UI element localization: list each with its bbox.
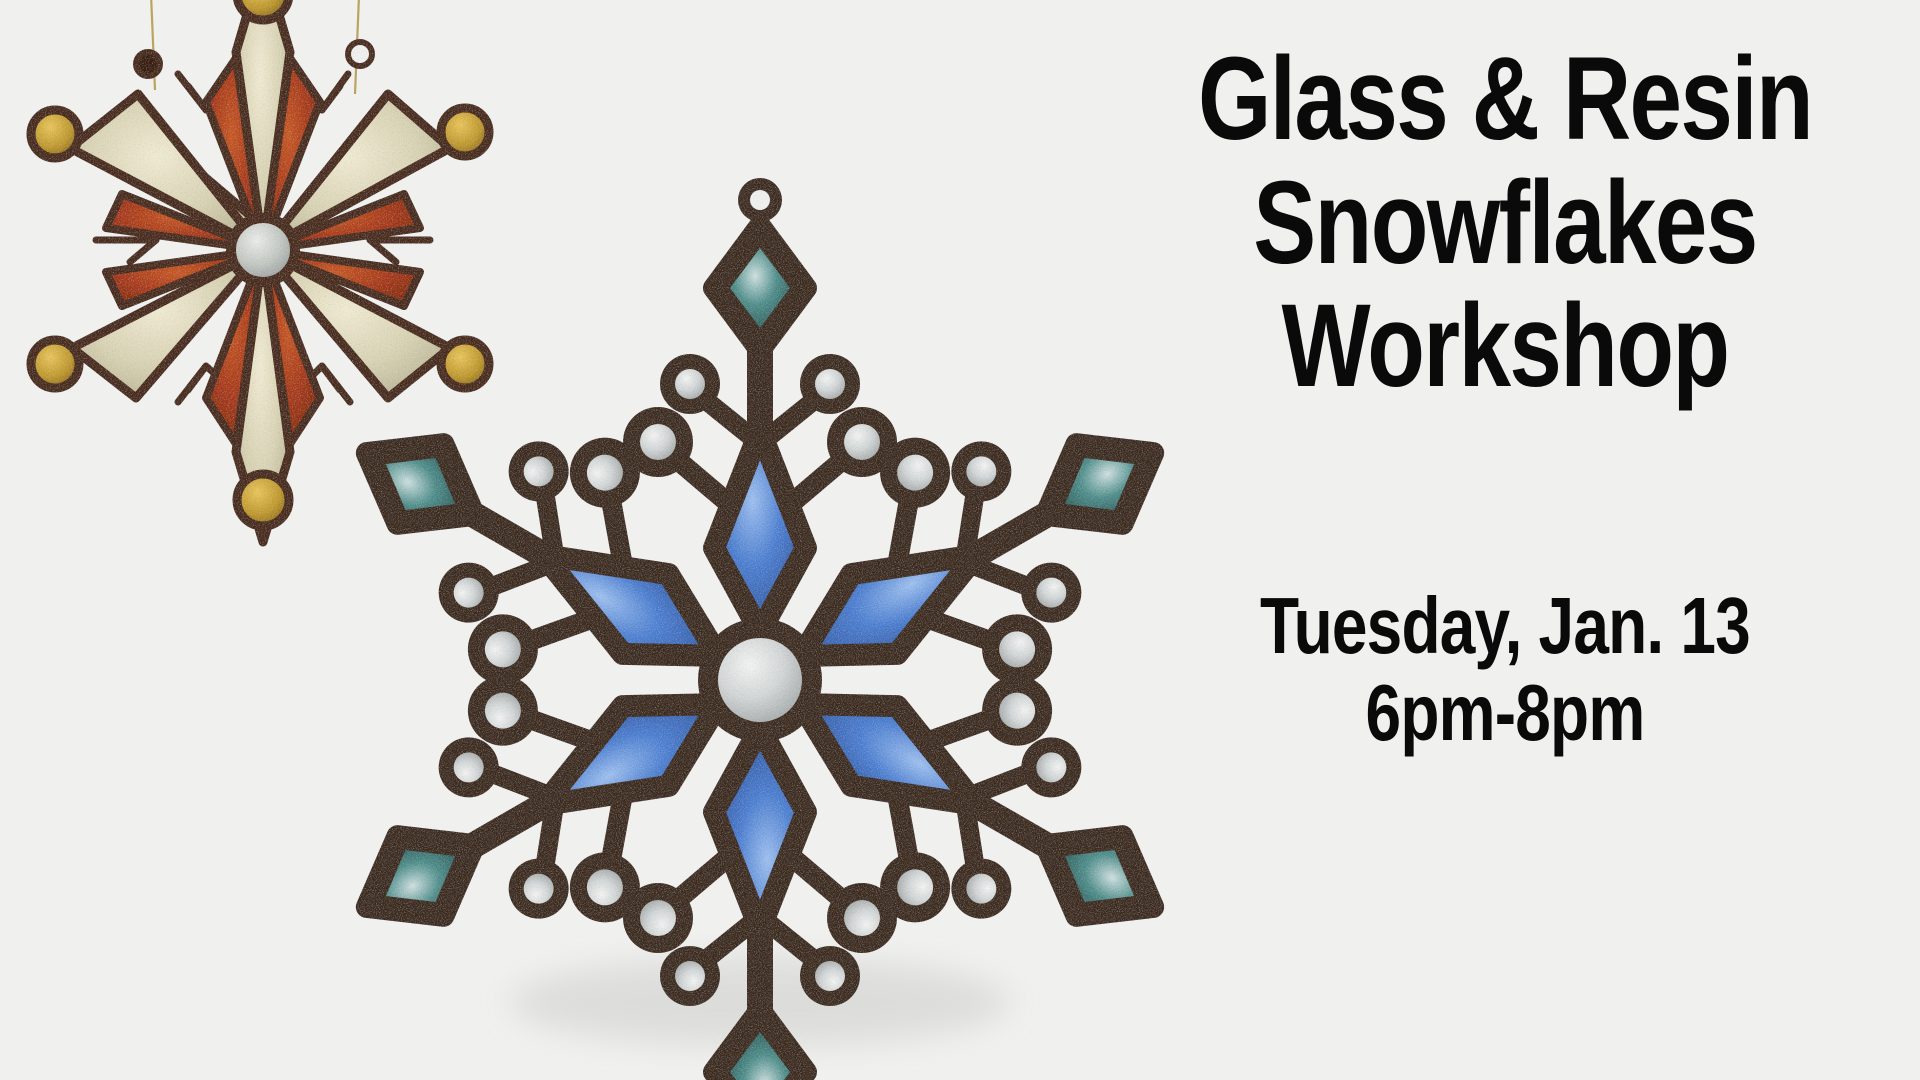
poster-canvas: Glass & Resin Snowflakes Workshop Tuesda… [0, 0, 1920, 1080]
six-point-snowflake-ornament [330, 260, 1190, 1080]
event-date: Tuesday, Jan. 13 [1093, 585, 1917, 667]
headline-line-2: Snowflakes [1093, 166, 1917, 282]
event-time: 6pm-8pm [1093, 672, 1917, 754]
headline-line-3: Workshop [1093, 289, 1917, 405]
headline-line-1: Glass & Resin [1093, 42, 1917, 158]
text-column: Glass & Resin Snowflakes Workshop Tuesda… [1090, 0, 1920, 1080]
snowflake-body [298, 178, 1221, 1080]
ornament-artwork-layer [0, 0, 1210, 1080]
snowflake-center-glass [718, 638, 802, 722]
